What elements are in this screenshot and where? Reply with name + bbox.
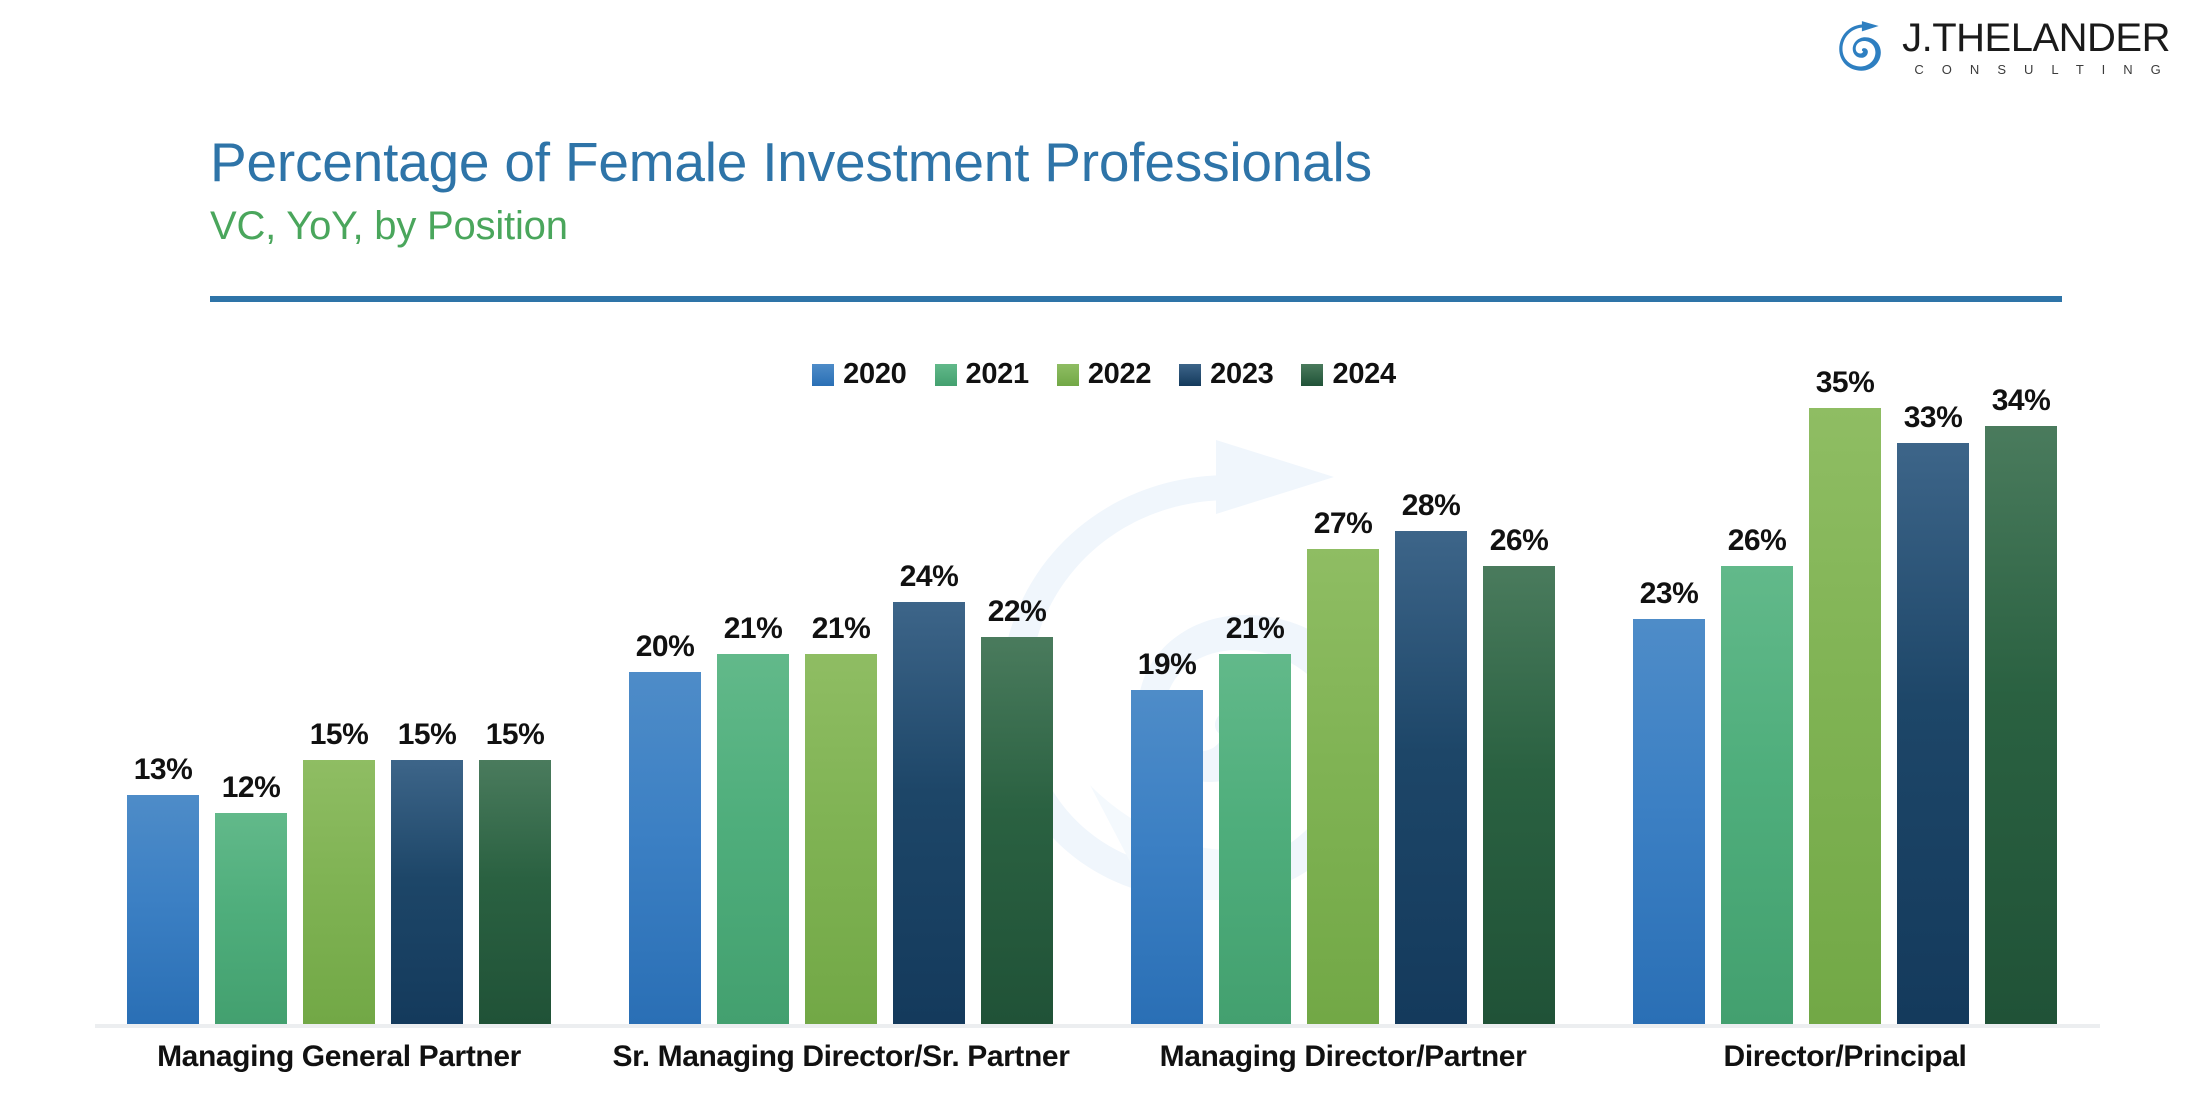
bar-column: 15% xyxy=(303,384,375,1024)
brand-logo: J.THELANDER C O N S U L T I N G xyxy=(1836,18,2170,76)
bar-2022[interactable] xyxy=(805,654,877,1024)
bar-2024[interactable] xyxy=(1483,566,1555,1024)
bar-column: 28% xyxy=(1395,384,1467,1024)
bar-2020[interactable] xyxy=(629,672,701,1024)
bar-2021[interactable] xyxy=(1219,654,1291,1024)
bar-column: 20% xyxy=(629,384,701,1024)
category-label: Director/Principal xyxy=(1724,1040,1967,1074)
bar-2020[interactable] xyxy=(127,795,199,1024)
bar-column: 35% xyxy=(1809,384,1881,1024)
legend-item-2021[interactable]: 2021 xyxy=(935,358,1029,391)
bar-2022[interactable] xyxy=(1307,549,1379,1024)
bar-2024[interactable] xyxy=(1985,426,2057,1024)
bar-value-label: 27% xyxy=(1293,507,1393,541)
legend-label: 2022 xyxy=(1088,358,1151,391)
category-label: Managing Director/Partner xyxy=(1160,1040,1527,1074)
bar-value-label: 24% xyxy=(879,560,979,594)
category-label: Managing General Partner xyxy=(157,1040,521,1074)
logo-tagline: C O N S U L T I N G xyxy=(1902,63,2170,76)
bar-2022[interactable] xyxy=(303,760,375,1024)
bar-column: 13% xyxy=(127,384,199,1024)
bar-value-label: 19% xyxy=(1117,648,1217,682)
bar-column: 23% xyxy=(1633,384,1705,1024)
bar-value-label: 33% xyxy=(1883,401,1983,435)
bar-group: 23%26%35%33%34%Director/Principal xyxy=(1633,384,2057,1024)
bar-2023[interactable] xyxy=(1395,531,1467,1024)
bar-2023[interactable] xyxy=(1897,443,1969,1024)
legend-swatch-icon xyxy=(935,364,957,386)
bar-2023[interactable] xyxy=(391,760,463,1024)
chart-header: Percentage of Female Investment Professi… xyxy=(210,132,1372,249)
bar-2024[interactable] xyxy=(981,637,1053,1024)
bar-2021[interactable] xyxy=(717,654,789,1024)
chart-legend: 20202021202220232024 xyxy=(0,358,2208,391)
spiral-swirl-icon xyxy=(1836,20,1890,74)
bar-value-label: 26% xyxy=(1707,524,1807,558)
legend-label: 2021 xyxy=(966,358,1029,391)
bar-column: 26% xyxy=(1721,384,1793,1024)
bar-2020[interactable] xyxy=(1633,619,1705,1024)
bar-2024[interactable] xyxy=(479,760,551,1024)
bar-value-label: 21% xyxy=(791,612,891,646)
legend-label: 2020 xyxy=(843,358,906,391)
bar-value-label: 15% xyxy=(289,718,389,752)
bar-2021[interactable] xyxy=(1721,566,1793,1024)
bar-2022[interactable] xyxy=(1809,408,1881,1024)
legend-item-2020[interactable]: 2020 xyxy=(812,358,906,391)
bar-column: 15% xyxy=(479,384,551,1024)
bar-column: 21% xyxy=(717,384,789,1024)
page-subtitle: VC, YoY, by Position xyxy=(210,203,1372,249)
bar-value-label: 12% xyxy=(201,771,301,805)
bar-value-label: 13% xyxy=(113,753,213,787)
bar-value-label: 26% xyxy=(1469,524,1569,558)
bar-column: 33% xyxy=(1897,384,1969,1024)
bar-2020[interactable] xyxy=(1131,690,1203,1024)
bar-value-label: 22% xyxy=(967,595,1067,629)
bar-column: 22% xyxy=(981,384,1053,1024)
bar-2023[interactable] xyxy=(893,602,965,1024)
bar-group: 19%21%27%28%26%Managing Director/Partner xyxy=(1131,384,1555,1024)
bar-value-label: 28% xyxy=(1381,489,1481,523)
legend-swatch-icon xyxy=(1179,364,1201,386)
bar-column: 24% xyxy=(893,384,965,1024)
bar-value-label: 15% xyxy=(465,718,565,752)
bar-value-label: 23% xyxy=(1619,577,1719,611)
legend-swatch-icon xyxy=(812,364,834,386)
bar-column: 21% xyxy=(805,384,877,1024)
bar-column: 26% xyxy=(1483,384,1555,1024)
category-label: Sr. Managing Director/Sr. Partner xyxy=(613,1040,1070,1074)
legend-item-2022[interactable]: 2022 xyxy=(1057,358,1151,391)
bar-column: 12% xyxy=(215,384,287,1024)
legend-item-2023[interactable]: 2023 xyxy=(1179,358,1273,391)
bar-column: 15% xyxy=(391,384,463,1024)
page-title: Percentage of Female Investment Professi… xyxy=(210,132,1372,193)
legend-item-2024[interactable]: 2024 xyxy=(1301,358,1395,391)
bar-column: 34% xyxy=(1985,384,2057,1024)
bar-value-label: 21% xyxy=(1205,612,1305,646)
bar-group: 20%21%21%24%22%Sr. Managing Director/Sr.… xyxy=(629,384,1053,1024)
bar-column: 27% xyxy=(1307,384,1379,1024)
bar-column: 21% xyxy=(1219,384,1291,1024)
bar-value-label: 15% xyxy=(377,718,477,752)
bar-value-label: 21% xyxy=(703,612,803,646)
legend-label: 2023 xyxy=(1210,358,1273,391)
logo-name: J.THELANDER xyxy=(1902,18,2170,58)
bar-column: 19% xyxy=(1131,384,1203,1024)
legend-label: 2024 xyxy=(1332,358,1395,391)
bar-group: 13%12%15%15%15%Managing General Partner xyxy=(127,384,551,1024)
legend-swatch-icon xyxy=(1057,364,1079,386)
bar-value-label: 20% xyxy=(615,630,715,664)
bar-2021[interactable] xyxy=(215,813,287,1024)
legend-swatch-icon xyxy=(1301,364,1323,386)
header-divider xyxy=(210,296,2062,302)
